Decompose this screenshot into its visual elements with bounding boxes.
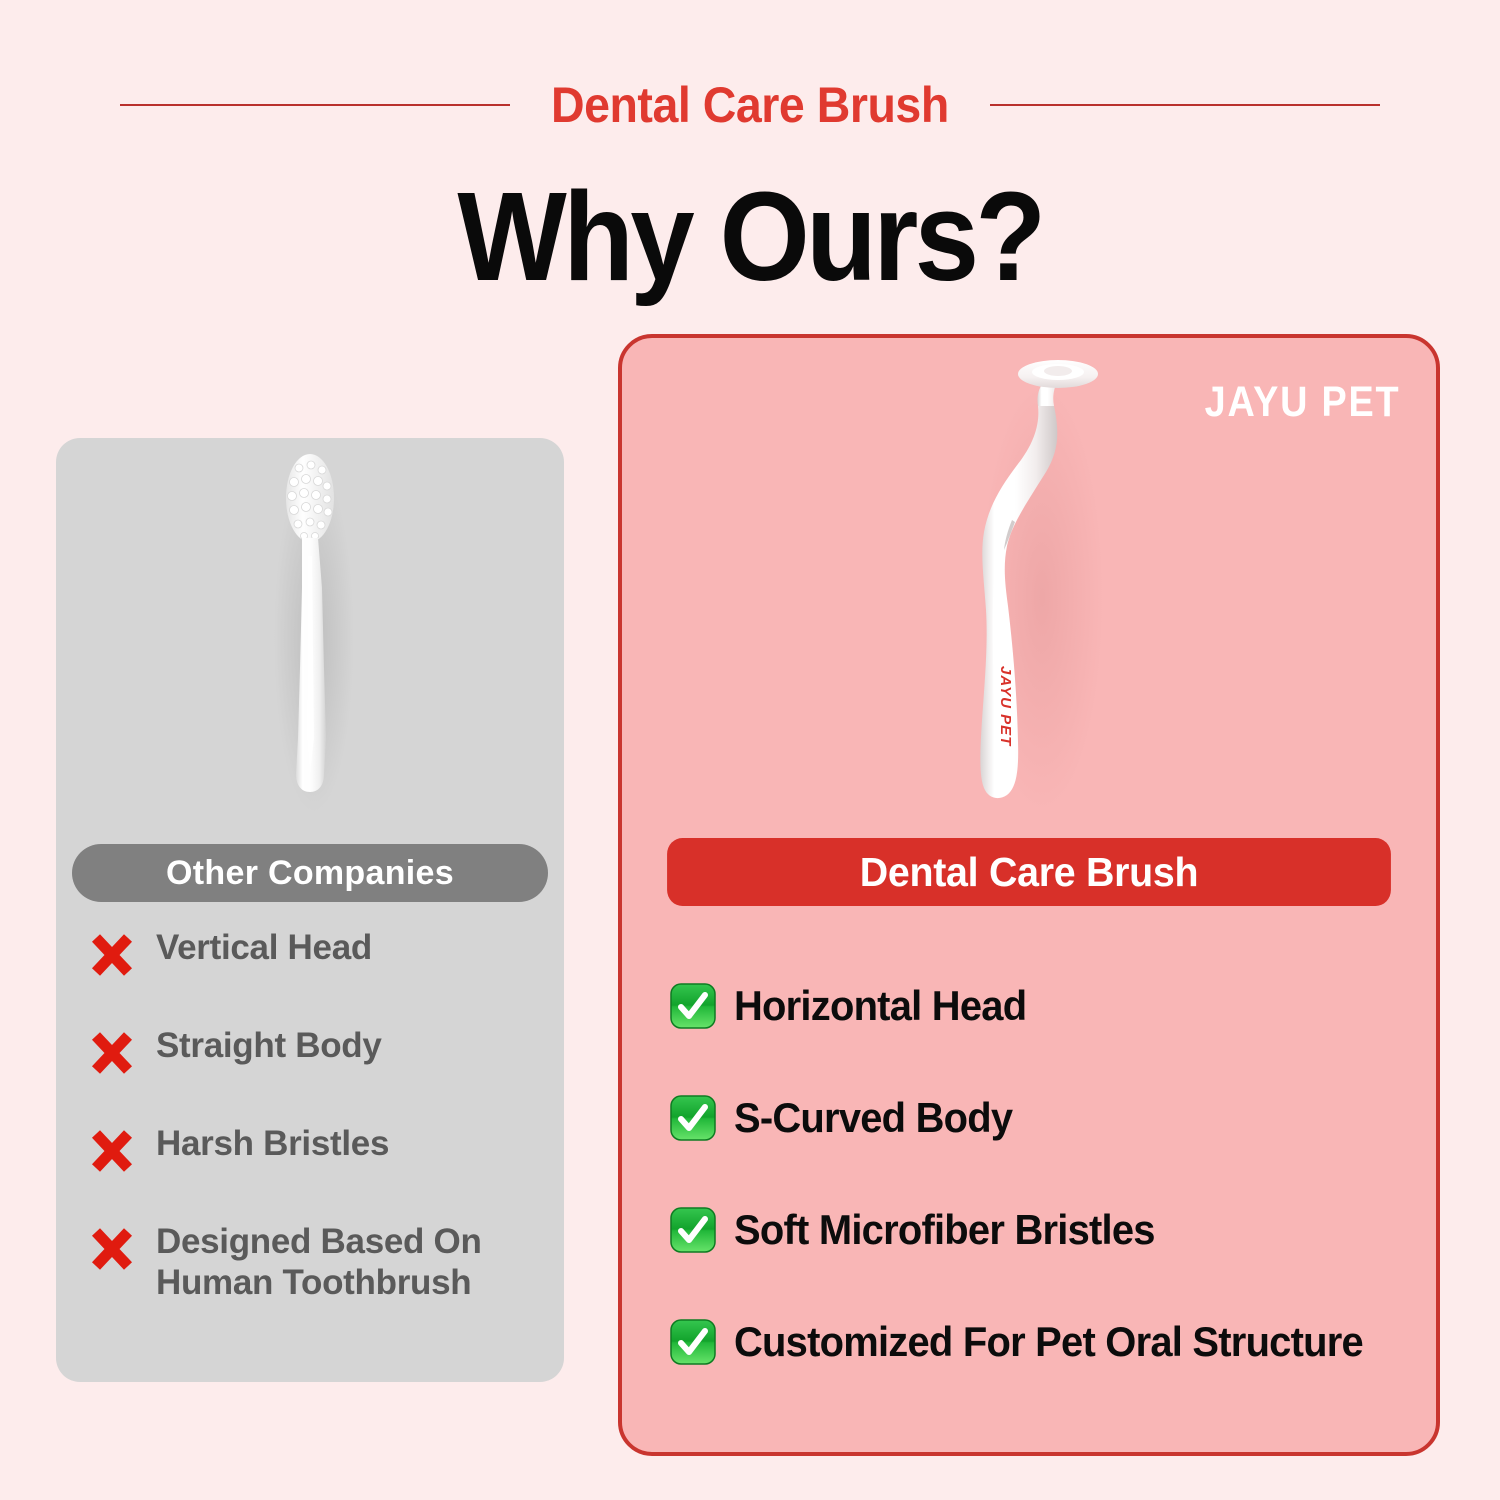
list-item: Soft Microfiber Bristles	[670, 1174, 1410, 1286]
eyebrow-rule-left	[120, 104, 510, 106]
check-icon	[670, 1095, 716, 1141]
list-item-label: Soft Microfiber Bristles	[734, 1206, 1155, 1254]
list-item: Horizontal Head	[670, 950, 1410, 1062]
eyebrow-rule-right	[990, 104, 1380, 106]
other-feature-list: Vertical Head Straight Body Harsh Bristl…	[90, 928, 550, 1303]
list-item: Designed Based On Human Toothbrush	[90, 1222, 550, 1303]
header-eyebrow: Dental Care Brush	[0, 72, 1500, 138]
dental-care-brush-pill: Dental Care Brush	[667, 838, 1391, 906]
eyebrow-title: Dental Care Brush	[551, 76, 949, 134]
cross-icon	[90, 1128, 134, 1174]
other-companies-pill: Other Companies	[72, 844, 548, 902]
dental-care-brush-panel: JAYU PET	[618, 334, 1440, 1456]
list-item-label: S-Curved Body	[734, 1094, 1012, 1142]
straight-toothbrush-photo	[56, 438, 564, 820]
list-item: Customized For Pet Oral Structure	[670, 1286, 1410, 1398]
handle-brand-print: JAYU PET	[997, 666, 1014, 747]
list-item: Straight Body	[90, 1026, 550, 1086]
list-item-label: Customized For Pet Oral Structure	[734, 1318, 1363, 1366]
list-item: Harsh Bristles	[90, 1124, 550, 1184]
cross-icon	[90, 1030, 134, 1076]
other-companies-panel: Other Companies Vertical Head Straight B…	[56, 438, 564, 1382]
page-title: Why Ours?	[60, 168, 1440, 307]
check-icon	[670, 983, 716, 1029]
list-item-label: Harsh Bristles	[156, 1124, 389, 1165]
list-item-label: Designed Based On Human Toothbrush	[156, 1222, 482, 1303]
list-item: Vertical Head	[90, 928, 550, 988]
s-curved-pet-toothbrush-photo: JAYU PET	[622, 348, 1436, 818]
list-item-label: Vertical Head	[156, 928, 372, 969]
ours-feature-list: Horizontal Head S-Curved Body Soft Micro…	[670, 950, 1410, 1398]
cross-icon	[90, 1226, 134, 1272]
cross-icon	[90, 932, 134, 978]
list-item-label: Straight Body	[156, 1026, 382, 1067]
list-item-label: Horizontal Head	[734, 982, 1026, 1030]
check-icon	[670, 1319, 716, 1365]
list-item: S-Curved Body	[670, 1062, 1410, 1174]
check-icon	[670, 1207, 716, 1253]
